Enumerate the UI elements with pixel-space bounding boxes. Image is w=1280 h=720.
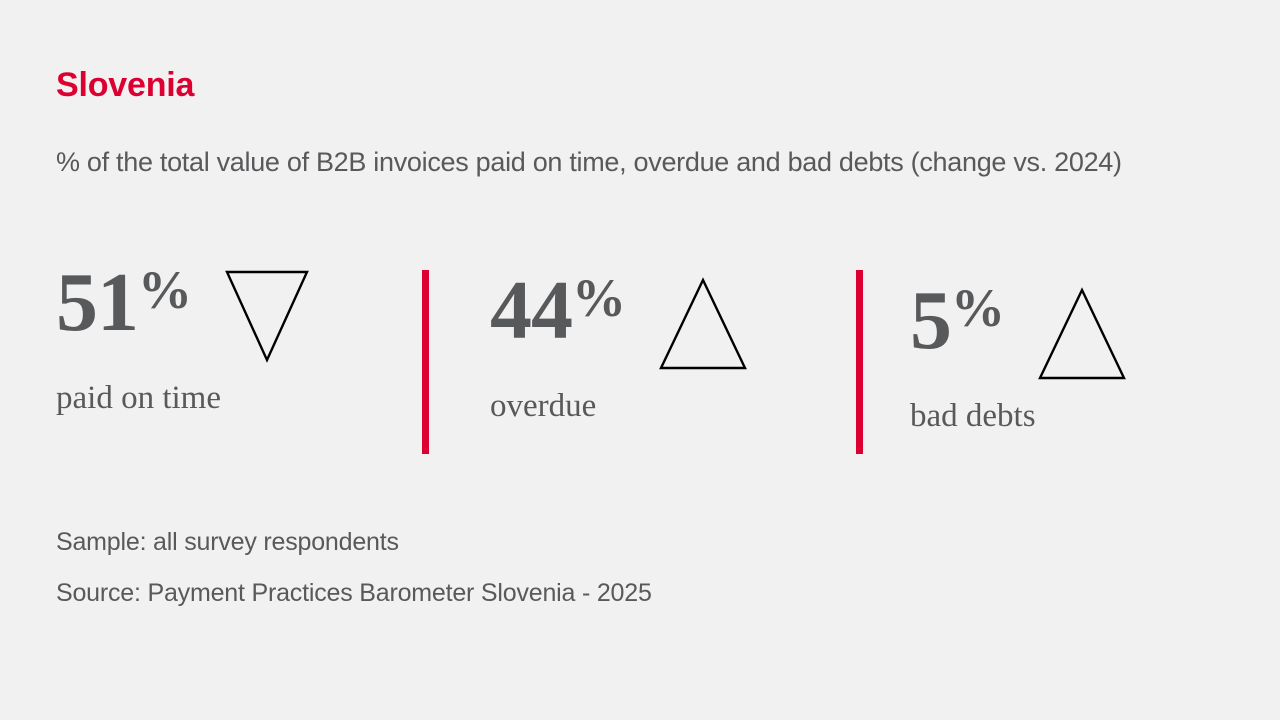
percent-sign: % [572, 268, 625, 328]
stat-value-row: 5% [910, 280, 1250, 388]
stat-label: overdue [490, 390, 840, 423]
stat-value: 51% [56, 262, 191, 344]
section-divider [422, 270, 429, 454]
footer-sample: Sample: all survey respondents [56, 530, 652, 555]
stats-row: 51% paid on time 44% overdue 5% [0, 262, 1280, 462]
page-subtitle: % of the total value of B2B invoices pai… [56, 145, 1196, 181]
footer-source: Source: Payment Practices Barometer Slov… [56, 581, 652, 606]
stat-number: 44 [490, 264, 572, 357]
stat-value: 5% [910, 280, 1004, 362]
stat-number: 5 [910, 274, 951, 367]
triangle-down-icon [225, 268, 309, 364]
stat-value: 44% [490, 270, 625, 352]
page-title: Slovenia [56, 68, 194, 102]
infographic-root: Slovenia % of the total value of B2B inv… [0, 0, 1280, 720]
percent-sign: % [138, 260, 191, 320]
footer: Sample: all survey respondents Source: P… [56, 530, 652, 606]
stat-block-overdue: 44% overdue [490, 262, 840, 470]
stat-block-paid-on-time: 51% paid on time [56, 262, 406, 462]
triangle-up-icon [1038, 286, 1126, 382]
stat-label: paid on time [56, 382, 406, 415]
percent-sign: % [951, 278, 1004, 338]
stat-value-row: 44% [490, 270, 840, 378]
stat-value-row: 51% [56, 262, 406, 370]
section-divider [856, 270, 863, 454]
triangle-up-icon [659, 276, 747, 372]
stat-label: bad debts [910, 400, 1250, 433]
stat-block-bad-debts: 5% bad debts [910, 262, 1250, 480]
stat-number: 51 [56, 256, 138, 349]
